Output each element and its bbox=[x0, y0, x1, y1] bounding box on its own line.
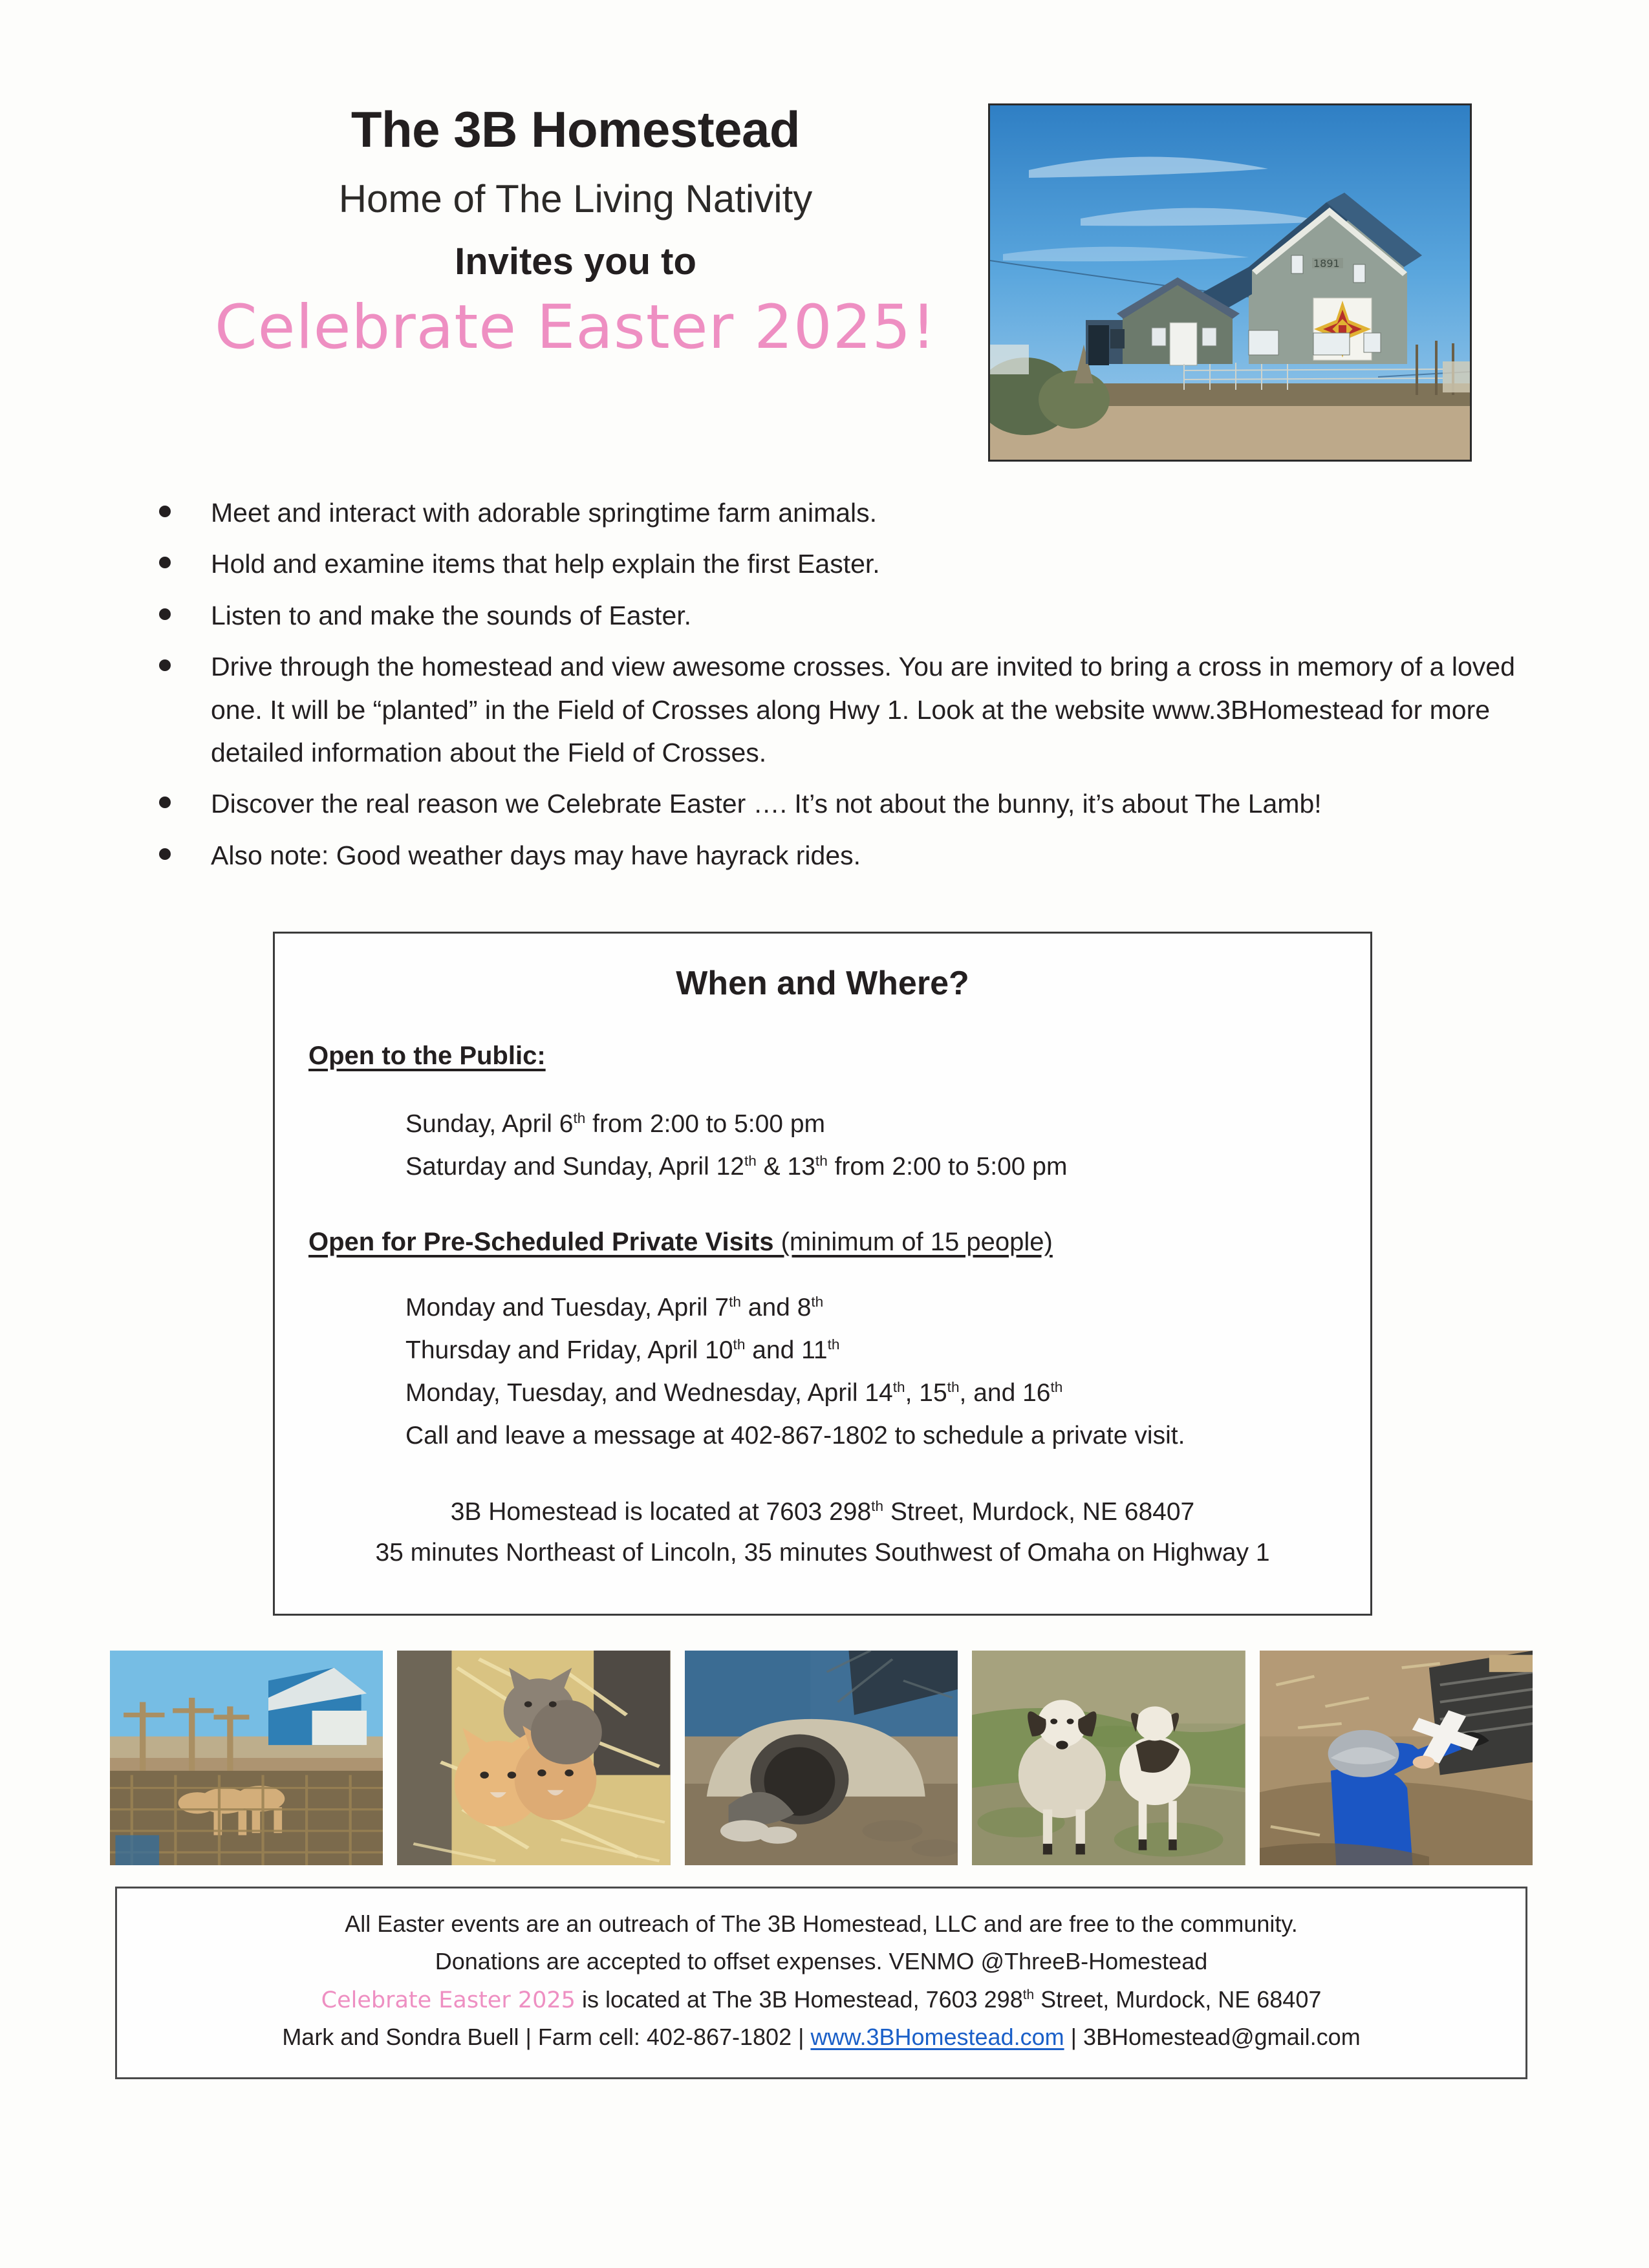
separator: | bbox=[1064, 2024, 1083, 2050]
sheep-illustration bbox=[972, 1651, 1245, 1865]
invite-line: Invites you to bbox=[194, 242, 957, 282]
private-visits-label: Open for Pre-Scheduled Private Visits bbox=[308, 1228, 774, 1256]
feature-bullet-list: Meet and interact with adorable springti… bbox=[147, 491, 1525, 885]
open-to-public-heading: Open to the Public: bbox=[308, 1042, 1370, 1071]
footer-phone: Farm cell: 402-867-1802 bbox=[538, 2024, 792, 2050]
footer-email: 3BHomestead@gmail.com bbox=[1083, 2024, 1361, 2050]
when-and-where-box: When and Where? Open to the Public: Sund… bbox=[273, 932, 1372, 1616]
date-text: Thursday and Friday, April 10 bbox=[405, 1336, 733, 1364]
page-title: The 3B Homestead bbox=[194, 103, 957, 156]
private-visits-note: (minimum of 15 people) bbox=[774, 1228, 1053, 1256]
ordinal-suffix: th bbox=[729, 1294, 741, 1310]
list-item: Discover the real reason we Celebrate Ea… bbox=[147, 782, 1525, 825]
footer-location-suffix: Street, Murdock, NE 68407 bbox=[1034, 1986, 1321, 2013]
list-item: Drive through the homestead and view awe… bbox=[147, 645, 1525, 774]
bullet-dot-icon bbox=[159, 797, 171, 808]
when-and-where-title: When and Where? bbox=[275, 964, 1370, 1003]
bullet-text: Drive through the homestead and view awe… bbox=[211, 645, 1525, 774]
child-illustration bbox=[1260, 1651, 1533, 1865]
bullet-text: Also note: Good weather days may have ha… bbox=[211, 834, 1525, 877]
bullet-dot-icon bbox=[159, 506, 171, 517]
ewe-and-lamb-photo bbox=[972, 1651, 1245, 1865]
footer-donations-line: Donations are accepted to offset expense… bbox=[117, 1943, 1525, 1980]
list-item: Listen to and make the sounds of Easter. bbox=[147, 594, 1525, 637]
list-item: Hold and examine items that help explain… bbox=[147, 542, 1525, 585]
open-to-public-label: Open to the Public: bbox=[308, 1042, 546, 1070]
shelter-illustration bbox=[685, 1651, 958, 1865]
ordinal-suffix: th bbox=[1051, 1379, 1063, 1395]
ordinal-suffix: th bbox=[828, 1336, 840, 1353]
photo-strip bbox=[110, 1651, 1533, 1865]
public-date-row: Saturday and Sunday, April 12th & 13th f… bbox=[405, 1146, 1370, 1188]
celebrate-easter-inline-logo: Celebrate Easter 2025 bbox=[321, 1987, 576, 2013]
ordinal-suffix: th bbox=[1023, 1987, 1034, 2002]
bullet-dot-icon bbox=[159, 608, 171, 620]
list-item: Also note: Good weather days may have ha… bbox=[147, 834, 1525, 877]
date-time: from 2:00 to 5:00 pm bbox=[585, 1110, 825, 1138]
public-dates-list: Sunday, April 6th from 2:00 to 5:00 pm S… bbox=[405, 1103, 1370, 1189]
date-text: Saturday and Sunday, April 12 bbox=[405, 1153, 744, 1181]
footer-owner-names: Mark and Sondra Buell bbox=[282, 2024, 519, 2050]
private-visits-heading: Open for Pre-Scheduled Private Visits (m… bbox=[308, 1228, 1370, 1257]
ordinal-suffix: th bbox=[733, 1336, 746, 1353]
dog-in-shelter-photo bbox=[685, 1651, 958, 1865]
date-text: Sunday, April 6 bbox=[405, 1110, 573, 1138]
three-crosses-with-sheep-photo bbox=[110, 1651, 383, 1865]
bullet-text: Discover the real reason we Celebrate Ea… bbox=[211, 782, 1525, 825]
date-time: from 2:00 to 5:00 pm bbox=[828, 1153, 1068, 1181]
private-date-row: Thursday and Friday, April 10th and 11th bbox=[405, 1329, 1370, 1372]
private-dates-list: Monday and Tuesday, April 7th and 8th Th… bbox=[405, 1287, 1370, 1458]
ordinal-suffix: th bbox=[815, 1153, 828, 1169]
barn-photo: 1891 bbox=[988, 103, 1472, 462]
date-text-2: and 8 bbox=[741, 1294, 811, 1321]
flyer-page: The 3B Homestead Home of The Living Nati… bbox=[0, 0, 1649, 2268]
svg-text:1891: 1891 bbox=[1313, 257, 1340, 270]
header-block: The 3B Homestead Home of The Living Nati… bbox=[194, 103, 957, 359]
ordinal-suffix: th bbox=[573, 1110, 585, 1126]
date-text: Monday and Tuesday, April 7 bbox=[405, 1294, 729, 1321]
footer-box: All Easter events are an outreach of The… bbox=[115, 1887, 1527, 2079]
date-text: Monday, Tuesday, and Wednesday, April 14 bbox=[405, 1379, 893, 1407]
barn-illustration: 1891 bbox=[990, 105, 1470, 460]
private-date-row: Monday and Tuesday, April 7th and 8th bbox=[405, 1287, 1370, 1329]
private-date-row: Monday, Tuesday, and Wednesday, April 14… bbox=[405, 1372, 1370, 1415]
bullet-text: Listen to and make the sounds of Easter. bbox=[211, 594, 1525, 637]
ordinal-suffix: th bbox=[893, 1379, 905, 1395]
bullet-text: Hold and examine items that help explain… bbox=[211, 542, 1525, 585]
footer-location-line: Celebrate Easter 2025 is located at The … bbox=[117, 1981, 1525, 2019]
location-lines: 3B Homestead is located at 7603 298th St… bbox=[275, 1492, 1370, 1573]
bullet-dot-icon bbox=[159, 848, 171, 860]
ordinal-suffix: th bbox=[947, 1379, 960, 1395]
bullet-dot-icon bbox=[159, 557, 171, 568]
location-address-line: 3B Homestead is located at 7603 298th St… bbox=[275, 1492, 1370, 1532]
location-directions-line: 35 minutes Northeast of Lincoln, 35 minu… bbox=[275, 1532, 1370, 1573]
separator: | bbox=[792, 2024, 810, 2050]
date-text-2: and 11 bbox=[745, 1336, 827, 1364]
bullet-dot-icon bbox=[159, 659, 171, 671]
address-prefix: 3B Homestead is located at 7603 298 bbox=[451, 1498, 871, 1526]
kittens-in-straw-photo bbox=[397, 1651, 670, 1865]
public-date-row: Sunday, April 6th from 2:00 to 5:00 pm bbox=[405, 1103, 1370, 1146]
bullet-text: Meet and interact with adorable springti… bbox=[211, 491, 1525, 534]
celebrate-easter-headline: Celebrate Easter 2025! bbox=[194, 296, 957, 360]
date-text-3: , and 16 bbox=[960, 1379, 1051, 1407]
ordinal-suffix: th bbox=[744, 1153, 757, 1169]
page-subtitle: Home of The Living Nativity bbox=[194, 178, 957, 219]
footer-location-prefix: is located at The 3B Homestead, 7603 298 bbox=[576, 1986, 1023, 2013]
separator: | bbox=[519, 2024, 538, 2050]
date-text-2: , 15 bbox=[905, 1379, 947, 1407]
crosses-illustration bbox=[110, 1651, 383, 1865]
ordinal-suffix: th bbox=[811, 1294, 823, 1310]
ordinal-suffix: th bbox=[871, 1498, 883, 1514]
list-item: Meet and interact with adorable springti… bbox=[147, 491, 1525, 534]
address-suffix: Street, Murdock, NE 68407 bbox=[883, 1498, 1194, 1526]
footer-outreach-line: All Easter events are an outreach of The… bbox=[117, 1905, 1525, 1943]
child-with-cross-photo bbox=[1260, 1651, 1533, 1865]
footer-contact-line: Mark and Sondra Buell|Farm cell: 402-867… bbox=[117, 2018, 1525, 2056]
call-to-schedule-line: Call and leave a message at 402-867-1802… bbox=[405, 1415, 1370, 1457]
date-text-2: & 13 bbox=[757, 1153, 815, 1181]
website-link[interactable]: www.3BHomestead.com bbox=[810, 2024, 1064, 2050]
kittens-illustration bbox=[397, 1651, 670, 1865]
